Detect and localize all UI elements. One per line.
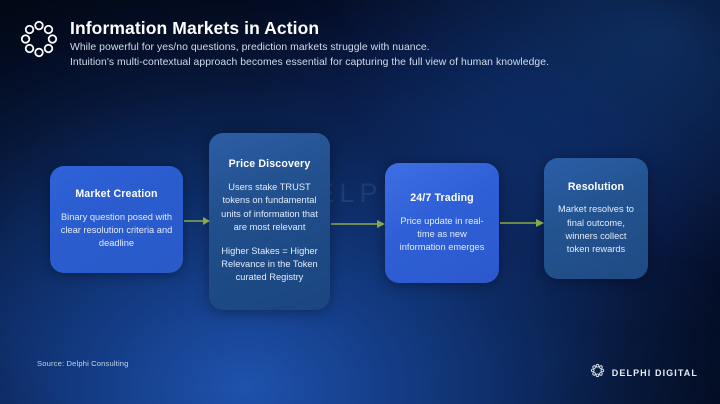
- flow-card-title: 24/7 Trading: [410, 192, 474, 205]
- flow-card-title: Price Discovery: [229, 158, 311, 171]
- delphi-ring-icon: [18, 18, 60, 60]
- delphi-ring-icon: [590, 363, 605, 383]
- flow-arrow-icon-1: [184, 214, 210, 226]
- subtitle-line-1: While powerful for yes/no questions, pre…: [70, 42, 430, 53]
- flow-card-body: Market resolves to final outcome, winner…: [553, 203, 639, 256]
- flow-arrow-icon-3: [500, 216, 544, 228]
- flow-card-market-creation[interactable]: Market Creation Binary question posed wi…: [50, 166, 183, 273]
- delphi-digital-logo: DELPHI DIGITAL: [590, 363, 698, 383]
- delphi-digital-wordmark: DELPHI DIGITAL: [612, 368, 698, 378]
- flow-card-price-discovery[interactable]: Price Discovery Users stake TRUST tokens…: [209, 133, 330, 310]
- flow-card-body: Binary question posed with clear resolut…: [59, 211, 174, 251]
- flow-card-body-secondary: Higher Stakes = Higher Relevance in the …: [218, 245, 321, 285]
- flow-card-body: Users stake TRUST tokens on fundamental …: [218, 181, 321, 234]
- flow-card-trading[interactable]: 24/7 Trading Price update in real-time a…: [385, 163, 499, 283]
- slide-canvas: DELPHI Information Markets in Action Whi…: [0, 0, 720, 404]
- page-title: Information Markets in Action: [70, 18, 319, 39]
- source-note: Source: Delphi Consulting: [37, 359, 129, 368]
- flow-arrow-icon-2: [331, 217, 385, 229]
- flow-card-title: Resolution: [568, 181, 624, 194]
- subtitle-line-2: Intuition's multi-contextual approach be…: [70, 57, 549, 68]
- flow-card-body: Price update in real-time as new informa…: [394, 215, 490, 255]
- flow-card-resolution[interactable]: Resolution Market resolves to final outc…: [544, 158, 648, 279]
- flow-card-title: Market Creation: [75, 188, 157, 201]
